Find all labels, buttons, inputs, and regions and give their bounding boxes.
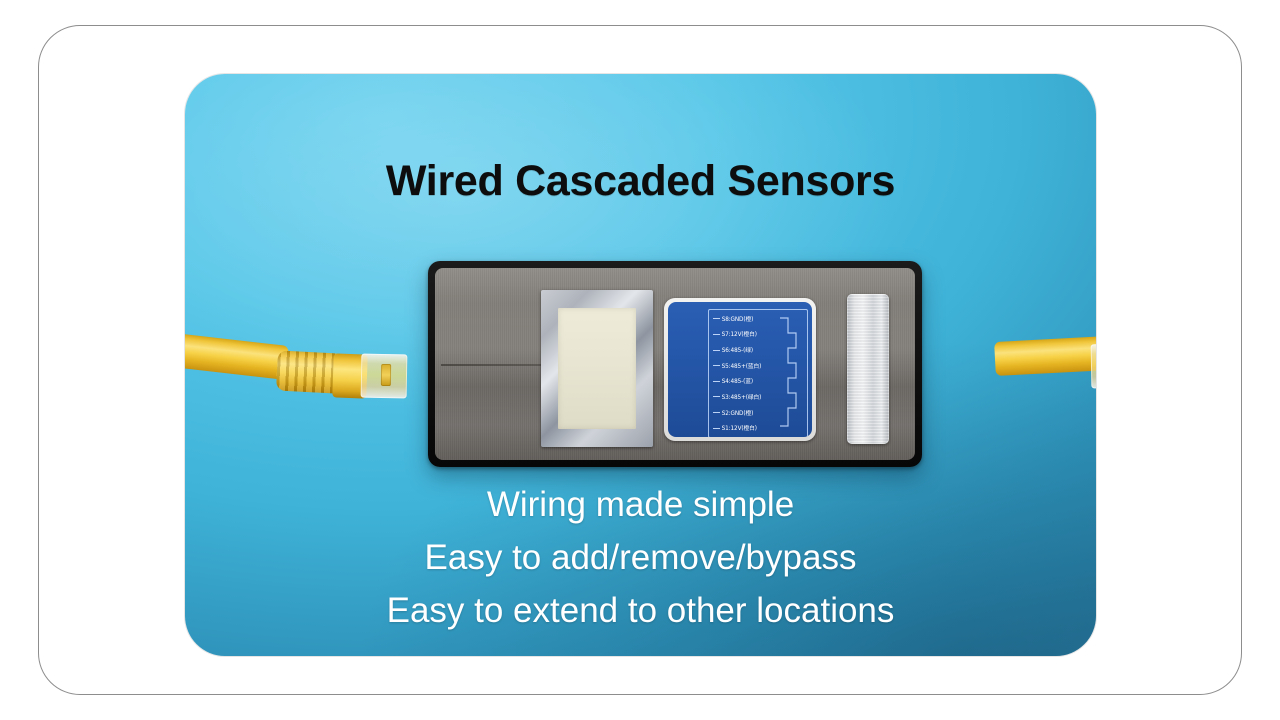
connector-outline-icon bbox=[780, 316, 802, 432]
caption-line-3: Easy to extend to other locations bbox=[185, 584, 1096, 637]
sensor-label-face: T&H SENSOR S8:GND(橙) S7:12V(橙白) bbox=[668, 302, 812, 437]
pin-label: S5:485+(蓝白) bbox=[722, 362, 762, 370]
boot-ribs bbox=[276, 350, 340, 393]
product-photo: Wired Cascaded Sensors bbox=[185, 74, 1096, 656]
lcd-bezel bbox=[541, 290, 653, 447]
caption-line-1: Wiring made simple bbox=[185, 478, 1096, 531]
pin-tick-icon bbox=[713, 412, 720, 413]
slide-canvas: Wired Cascaded Sensors bbox=[0, 0, 1280, 720]
pin-label: S8:GND(橙) bbox=[722, 315, 754, 323]
pin-row: S5:485+(蓝白) bbox=[713, 359, 785, 372]
silver-strip-texture bbox=[847, 294, 889, 444]
pin-tick-icon bbox=[713, 334, 720, 335]
right-ethernet-cable bbox=[994, 335, 1096, 375]
pin-row: S2:GND(橙) bbox=[713, 406, 785, 419]
sensor-device: T&H SENSOR S8:GND(橙) S7:12V(橙白) bbox=[428, 261, 922, 467]
device-faceplate: T&H SENSOR S8:GND(橙) S7:12V(橙白) bbox=[435, 268, 915, 460]
pin-tick-icon bbox=[713, 396, 720, 397]
pin-tick-icon bbox=[713, 428, 720, 429]
pin-tick-icon bbox=[713, 350, 720, 351]
silver-metal-strip bbox=[847, 294, 889, 444]
slide-title: Wired Cascaded Sensors bbox=[185, 157, 1096, 206]
pin-row: S8:GND(橙) bbox=[713, 312, 785, 325]
right-rj45-plug-body bbox=[1091, 344, 1096, 389]
pin-row: S6:485-(绿) bbox=[713, 344, 785, 357]
sensor-label-sticker: T&H SENSOR S8:GND(橙) S7:12V(橙白) bbox=[664, 298, 816, 441]
pin-row: S3:485+(绿白) bbox=[713, 390, 785, 403]
pin-tick-icon bbox=[713, 318, 720, 319]
pin-row: S1:12V(橙白) bbox=[713, 422, 785, 435]
caption-line-2: Easy to add/remove/bypass bbox=[185, 531, 1096, 584]
pin-row: S4:485-(蓝) bbox=[713, 375, 785, 388]
left-ethernet-cable bbox=[185, 333, 289, 380]
left-rj45-latch-icon bbox=[381, 364, 391, 386]
lcd-screen bbox=[558, 308, 636, 429]
pin-tick-icon bbox=[713, 365, 720, 366]
pin-label: S4:485-(蓝) bbox=[722, 377, 753, 385]
caption-block: Wiring made simple Easy to add/remove/by… bbox=[185, 478, 1096, 637]
pin-list: S8:GND(橙) S7:12V(橙白) S6:485-(绿) bbox=[713, 311, 785, 436]
pin-label: S1:12V(橙白) bbox=[722, 424, 757, 432]
pin-label: S2:GND(橙) bbox=[722, 408, 754, 416]
pin-label: S7:12V(橙白) bbox=[722, 330, 757, 338]
pin-label: S3:485+(绿白) bbox=[722, 393, 762, 401]
pin-label: S6:485-(绿) bbox=[722, 346, 753, 354]
pin-row: S7:12V(橙白) bbox=[713, 328, 785, 341]
pin-tick-icon bbox=[713, 381, 720, 382]
left-cable-strain-relief-boot bbox=[276, 350, 340, 393]
